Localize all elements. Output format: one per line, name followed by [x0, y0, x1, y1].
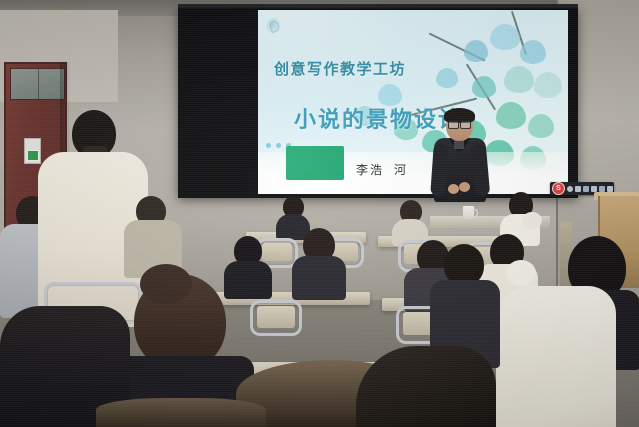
slide-accent-block [286, 146, 344, 180]
list-item [292, 228, 346, 298]
leaf [496, 102, 526, 129]
leaf [528, 114, 554, 138]
slide-presenter-line: 李浩河 [356, 161, 408, 178]
student-torso [292, 256, 346, 300]
dark-coat [356, 346, 496, 427]
leaf [504, 66, 534, 93]
classroom-photo: 创意写作教学工坊 小说的景物设计 李浩河 S [0, 0, 639, 427]
presenter-right-arm [471, 143, 490, 196]
shape-icon[interactable] [591, 186, 597, 192]
more-icon[interactable] [607, 186, 613, 192]
gallery-icon[interactable] [599, 186, 605, 192]
fur-collar [506, 260, 536, 286]
leaf [436, 68, 458, 88]
presenter-left-hand [448, 184, 459, 194]
slide-content: 创意写作教学工坊 小说的景物设计 李浩河 [258, 10, 568, 194]
glasses-icon [448, 121, 471, 127]
chair [250, 300, 302, 336]
presenter-shirt [454, 140, 464, 149]
leaf [520, 40, 546, 64]
fur-collar [522, 212, 542, 229]
white-coat [496, 286, 616, 427]
leaf [464, 40, 488, 62]
leaf [472, 76, 496, 98]
slide-watermark-logo [266, 18, 282, 34]
pointer-icon[interactable] [583, 186, 589, 192]
eraser-icon[interactable] [575, 186, 581, 192]
presenter [432, 110, 488, 202]
slide-title-main: 创意写作教学工坊 [274, 58, 406, 79]
water-cup [463, 206, 474, 219]
chair-pad [257, 306, 295, 328]
presenter-right-hand [459, 182, 470, 192]
slide-presenter-org: 河 [394, 163, 408, 177]
leaf [534, 72, 562, 98]
list-item [392, 200, 428, 244]
leaf [490, 24, 520, 50]
list-item [496, 286, 616, 427]
list-item [236, 346, 486, 427]
pen-icon[interactable] [567, 186, 573, 192]
hair-bun [140, 264, 192, 304]
slide-presenter-name: 李浩 [356, 163, 384, 177]
seewo-logo-icon[interactable]: S [552, 182, 565, 195]
door-transom-glass [10, 68, 65, 100]
fur-hood [96, 398, 266, 427]
